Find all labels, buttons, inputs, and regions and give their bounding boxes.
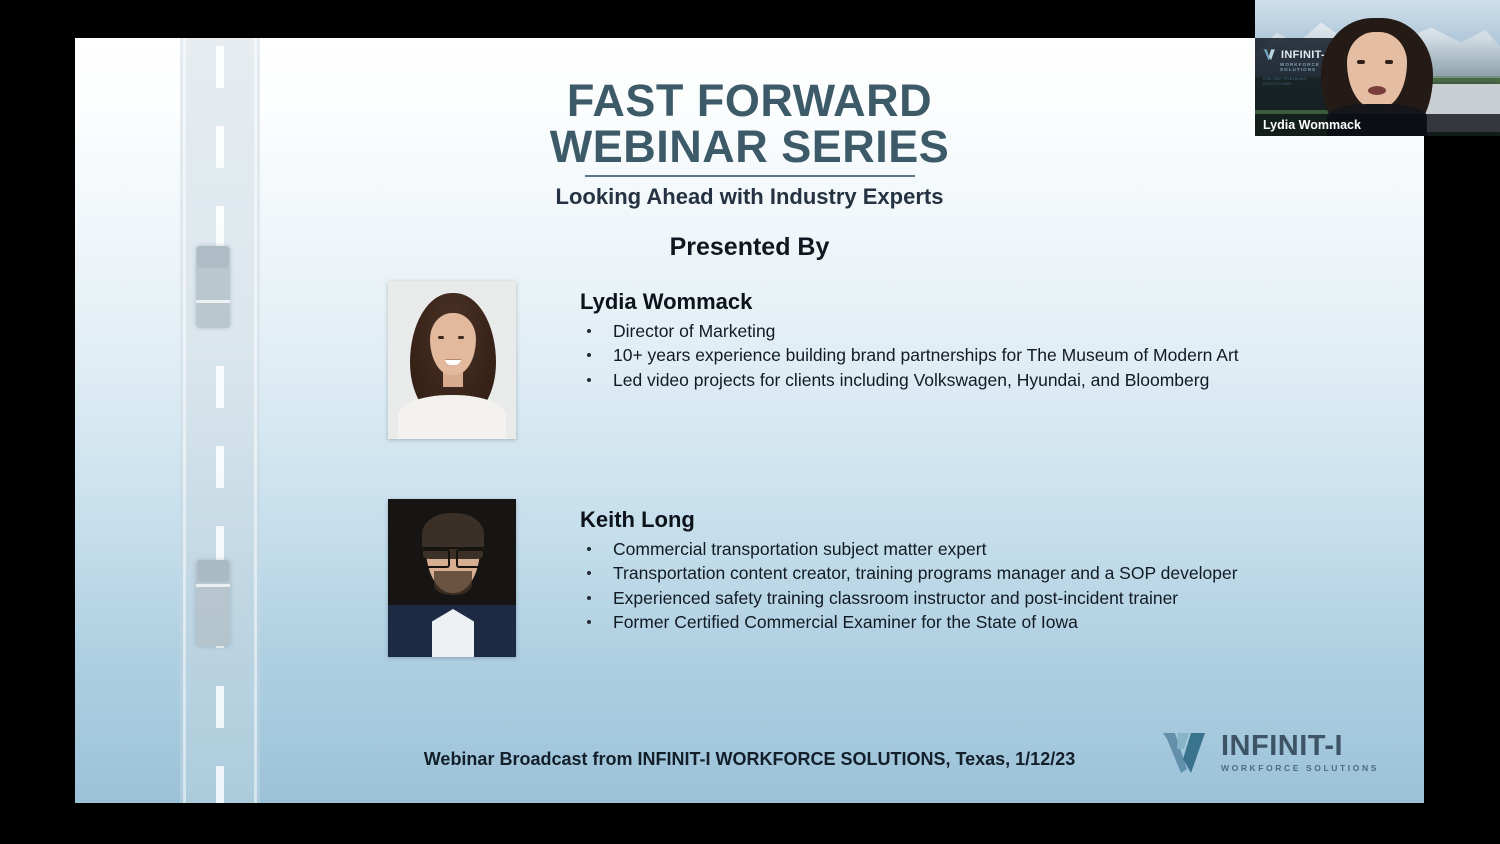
title-line-2: WEBINAR SERIES	[75, 124, 1424, 170]
avatar-body	[398, 395, 506, 439]
truck-icon	[196, 560, 230, 646]
truck-divider	[196, 584, 230, 587]
speaker-name: Lydia Wommack	[580, 289, 1239, 315]
road-dash	[216, 446, 224, 488]
list-item: Led video projects for clients including…	[580, 368, 1239, 392]
slide-title-block: FAST FORWARD WEBINAR SERIES Looking Ahea…	[75, 78, 1424, 210]
road-dash	[216, 766, 224, 803]
avatar-keith-long	[388, 499, 516, 657]
list-item: 10+ years experience building brand part…	[580, 343, 1239, 367]
infiniti-logomark-icon	[1263, 48, 1277, 61]
logo-text: INFINIT-I WORKFORCE SOLUTIONS	[1221, 732, 1379, 773]
road-dash	[216, 686, 224, 728]
infiniti-logomark-icon	[1161, 729, 1213, 775]
slide-tagline: Looking Ahead with Industry Experts	[75, 184, 1424, 210]
avatar-lydia-wommack	[388, 281, 516, 439]
webcam-name-label: Lydia Wommack	[1255, 114, 1500, 136]
speaker-card-keith-long: Keith Long Commercial transportation sub…	[388, 499, 1238, 657]
person-eye-left	[1357, 60, 1365, 64]
road-dash	[216, 366, 224, 408]
speaker-bullet-list: Director of Marketing 10+ years experien…	[580, 319, 1239, 392]
list-item: Former Certified Commercial Examiner for…	[580, 610, 1238, 634]
webcam-speaker-name: Lydia Wommack	[1255, 118, 1361, 132]
title-line-1: FAST FORWARD	[75, 78, 1424, 124]
list-item: Experienced safety training classroom in…	[580, 586, 1238, 610]
list-item: Transportation content creator, training…	[580, 561, 1238, 585]
list-item: Director of Marketing	[580, 319, 1239, 343]
speaker-bio: Lydia Wommack Director of Marketing 10+ …	[580, 281, 1239, 392]
list-item: Commercial transportation subject matter…	[580, 537, 1238, 561]
speaker-bullet-list: Commercial transportation subject matter…	[580, 537, 1238, 634]
avatar-eye-left	[438, 336, 444, 339]
glasses-lens-right	[456, 549, 485, 568]
screen: FAST FORWARD WEBINAR SERIES Looking Ahea…	[0, 0, 1500, 844]
infiniti-logo: INFINIT-I WORKFORCE SOLUTIONS	[1161, 729, 1379, 775]
presented-by-heading: Presented By	[75, 233, 1424, 262]
logo-subtitle: WORKFORCE SOLUTIONS	[1221, 764, 1379, 773]
truck-cab	[197, 560, 229, 582]
person-eye-right	[1385, 60, 1393, 64]
presentation-slide: FAST FORWARD WEBINAR SERIES Looking Ahea…	[75, 38, 1424, 803]
avatar-beard	[434, 571, 472, 595]
title-underline	[585, 175, 915, 177]
avatar-eye-right	[458, 336, 464, 339]
glasses-lens-left	[421, 549, 450, 568]
speaker-card-lydia-wommack: Lydia Wommack Director of Marketing 10+ …	[388, 281, 1239, 439]
truck-divider	[196, 300, 230, 303]
person-mouth	[1368, 86, 1386, 95]
glasses-icon	[421, 547, 485, 564]
webcam-overlay[interactable]: INFINIT-I WORKFORCE SOLUTIONS ONLINE TRA…	[1255, 0, 1500, 136]
logo-name: INFINIT-I	[1221, 732, 1379, 761]
person-face	[1347, 32, 1407, 108]
speaker-name: Keith Long	[580, 507, 1238, 533]
speaker-bio: Keith Long Commercial transportation sub…	[580, 499, 1238, 634]
